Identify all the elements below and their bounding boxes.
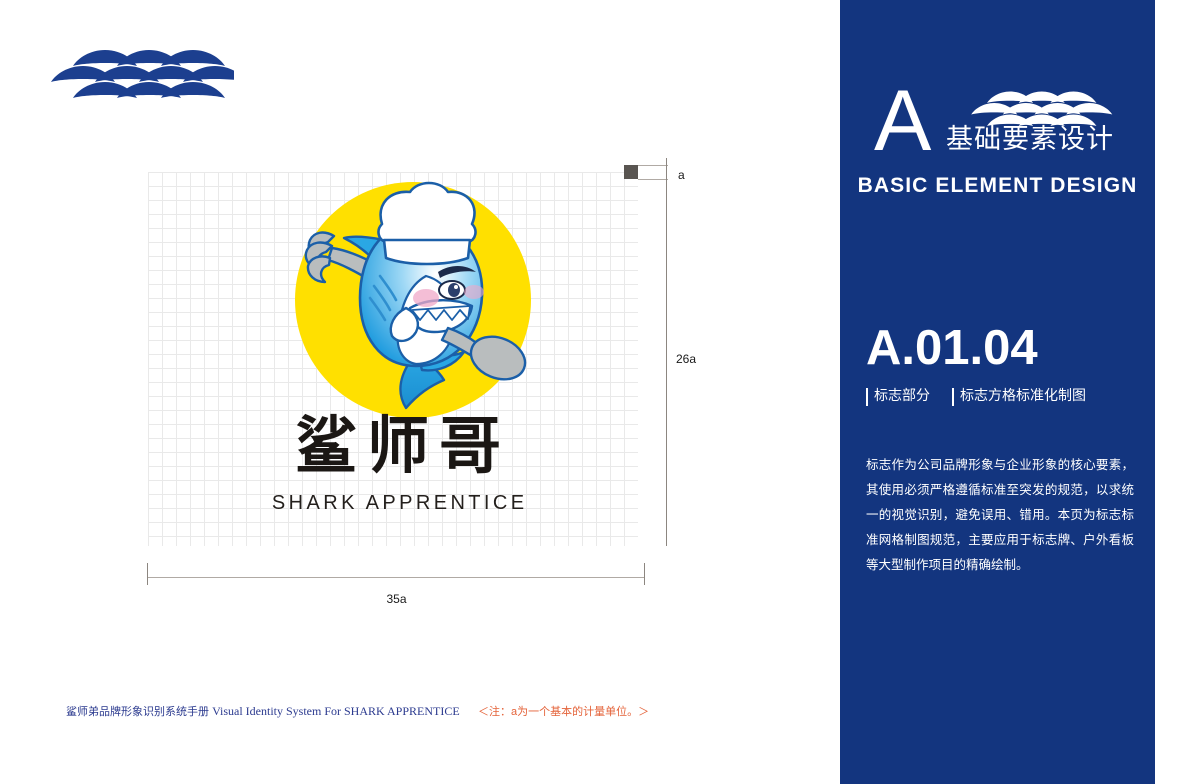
horizontal-dimension-label: 35a: [0, 592, 793, 606]
footer-manual-title-en: Visual Identity System For SHARK APPRENT…: [212, 704, 460, 718]
horizontal-dimension-cap-right: [644, 563, 645, 585]
section-subtitle-label: 标志方格标准化制图: [960, 388, 1086, 406]
right-blue-panel: A 基础要素设计 BASIC ELEMENT DESIGN A.: [840, 0, 1155, 784]
section-subtitles: 标志部分 标志方格标准化制图: [866, 388, 1146, 406]
section-subtitle-label: 标志部分: [874, 388, 930, 406]
panel-title-english: BASIC ELEMENT DESIGN: [840, 174, 1155, 198]
footer-note: ＜注：a为一个基本的计量单位。＞: [478, 703, 649, 719]
fish-scale-wave-mark-icon: [48, 48, 234, 98]
vertical-dimension-label: 26a: [676, 352, 696, 366]
section-code: A.01.04: [866, 324, 1038, 373]
panel-header: A 基础要素设计 BASIC ELEMENT DESIGN: [840, 78, 1155, 198]
unit-dimension-line-bottom: [638, 179, 668, 180]
left-page: 鲨师哥 SHARK APPRENTICE a 26a 35a 鲨师弟品牌形象识别…: [0, 0, 840, 784]
vertical-dimension-line: [666, 186, 667, 546]
panel-title-chinese: 基础要素设计: [946, 126, 1114, 153]
section-subtitle-1: 标志部分: [866, 388, 930, 406]
subtitle-rule: [952, 388, 954, 406]
footer-manual-title: 鲨师弟品牌形象识别系统手册 Visual Identity System For…: [66, 703, 460, 719]
subtitle-rule: [866, 388, 868, 406]
unit-dimension-label: a: [678, 168, 685, 182]
horizontal-dimension-cap-left: [147, 563, 148, 585]
section-letter: A: [874, 78, 929, 164]
construction-grid: [148, 172, 638, 546]
section-body-text: 标志作为公司品牌形象与企业形象的核心要素，其使用必须严格遵循标准至突发的规范，以…: [866, 452, 1134, 577]
footer-manual-title-cn: 鲨师弟品牌形象识别系统手册: [66, 706, 209, 718]
horizontal-dimension-line: [148, 577, 645, 578]
section-subtitle-2: 标志方格标准化制图: [952, 388, 1086, 406]
unit-dimension-tick: [666, 158, 667, 188]
unit-dimension-line-top: [638, 165, 668, 166]
unit-square-swatch: [624, 165, 638, 179]
fish-scale-wave-mark-icon: [946, 90, 1126, 126]
